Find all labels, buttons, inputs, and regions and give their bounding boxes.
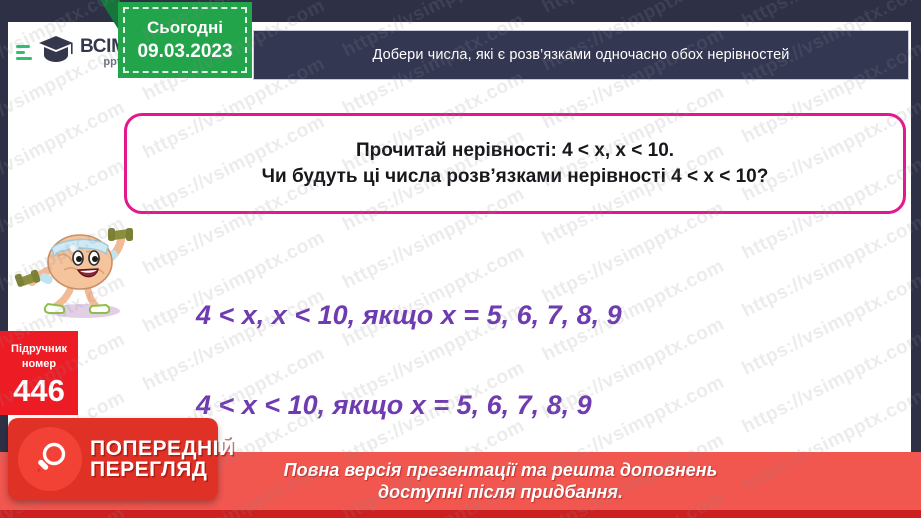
slide-header-bar: Добери числа, які є розв’язками одночасн… [253, 30, 909, 80]
question-box: Прочитай нерівності: 4 < x, x < 10. Чи б… [124, 113, 906, 214]
question-line-2: Чи будуть ці числа розв’язками нерівност… [262, 166, 769, 188]
question-line-1: Прочитай нерівності: 4 < x, x < 10. [356, 140, 674, 162]
today-date: 09.03.2023 [137, 41, 232, 63]
brand-logo: ВСІМ pptx [10, 24, 130, 80]
preview-button-labels: ПОПЕРЕДНІЙ ПЕРЕГЛЯД [90, 438, 235, 480]
today-date-badge: Сьогодні 09.03.2023 [118, 2, 252, 78]
today-label: Сьогодні [147, 18, 223, 38]
purchase-notice-line-2: доступні після придбання. [284, 481, 718, 504]
preview-button-line-1: ПОПЕРЕДНІЙ [90, 438, 235, 459]
purchase-notice-text: Повна версія презентації та решта доповн… [284, 459, 718, 504]
graduation-cap-icon [37, 34, 75, 71]
logo-speed-lines-icon [10, 45, 32, 60]
preview-button[interactable]: ПОПЕРЕДНІЙ ПЕРЕГЛЯД [8, 418, 218, 500]
equation-line-2: 4 < x < 10, якщо x = 5, 6, 7, 8, 9 [196, 390, 592, 421]
equation-line-1: 4 < x, x < 10, якщо x = 5, 6, 7, 8, 9 [196, 300, 622, 331]
purchase-notice-line-1: Повна версія презентації та решта доповн… [284, 459, 718, 482]
bottom-accent-strip [0, 510, 921, 518]
presentation-slide: ВСІМ pptx Сьогодні 09.03.2023 Добери чис… [0, 0, 921, 518]
preview-button-line-2: ПЕРЕГЛЯД [90, 459, 235, 480]
magnifier-icon [18, 427, 82, 491]
textbook-badge-line-2: номер [22, 357, 56, 372]
textbook-badge-line-1: Підручник [11, 342, 67, 357]
slide-header-title: Добери числа, які є розв’язками одночасн… [373, 47, 790, 63]
textbook-number-badge: Підручник номер 446 [0, 331, 78, 415]
textbook-number: 446 [13, 375, 65, 406]
brain-mascot-icon [12, 212, 152, 322]
